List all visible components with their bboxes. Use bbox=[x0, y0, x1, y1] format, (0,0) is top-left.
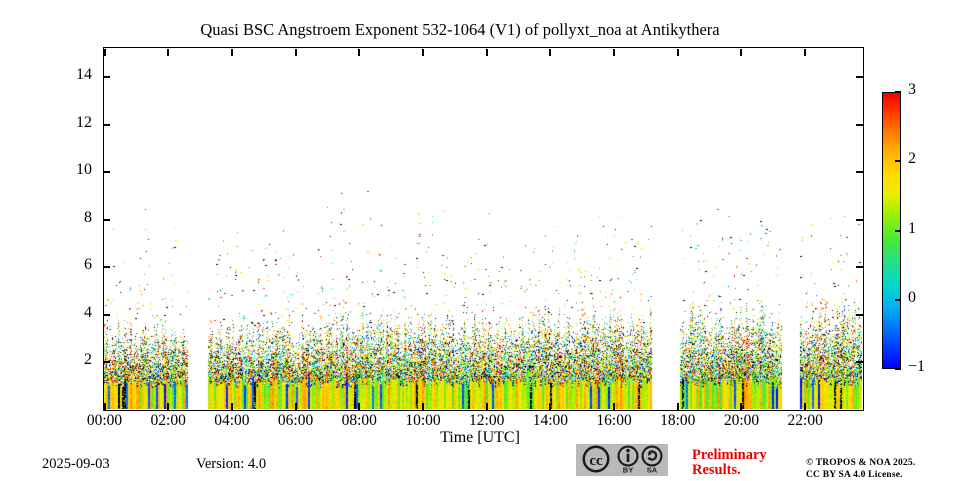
x-tick-label: 10:00 bbox=[405, 412, 440, 430]
x-tick-mark bbox=[613, 403, 615, 410]
colorbar-tick-mark bbox=[895, 368, 901, 370]
colorbar-tick-mark bbox=[895, 91, 901, 93]
x-tick-mark-top bbox=[677, 49, 679, 56]
x-tick-mark bbox=[486, 403, 488, 410]
x-tick-mark-top bbox=[613, 49, 615, 56]
x-tick-label: 16:00 bbox=[596, 412, 631, 430]
x-tick-mark-top bbox=[804, 49, 806, 56]
colorbar-tick-label: −1 bbox=[908, 358, 925, 376]
x-tick-mark bbox=[358, 403, 360, 410]
y-tick-mark bbox=[103, 171, 110, 173]
x-tick-label: 02:00 bbox=[151, 412, 186, 430]
colorbar-tick-label: 0 bbox=[908, 289, 916, 307]
copyright-line-2: CC BY SA 4.0 License. bbox=[806, 470, 915, 481]
y-tick-mark bbox=[103, 361, 110, 363]
x-tick-mark bbox=[740, 403, 742, 410]
y-tick-mark-right bbox=[856, 361, 863, 363]
y-tick-label: 2 bbox=[84, 351, 92, 369]
y-tick-mark bbox=[103, 314, 110, 316]
x-tick-mark bbox=[549, 403, 551, 410]
colorbar-tick-mark bbox=[895, 160, 901, 162]
x-tick-mark bbox=[677, 403, 679, 410]
x-tick-mark bbox=[804, 403, 806, 410]
creative-commons-badge: cc BY SA bbox=[576, 444, 668, 476]
x-tick-mark bbox=[295, 403, 297, 410]
x-tick-label: 00:00 bbox=[87, 412, 122, 430]
y-tick-label: 4 bbox=[84, 304, 92, 322]
y-tick-mark-right bbox=[856, 266, 863, 268]
preliminary-line-1: Preliminary bbox=[692, 448, 802, 463]
y-tick-mark bbox=[103, 124, 110, 126]
x-tick-mark-top bbox=[422, 49, 424, 56]
x-tick-mark bbox=[231, 403, 233, 410]
y-tick-label: 10 bbox=[76, 161, 92, 179]
page-title: Quasi BSC Angstroem Exponent 532-1064 (V… bbox=[0, 20, 920, 40]
x-tick-label: 08:00 bbox=[342, 412, 377, 430]
y-tick-mark-right bbox=[856, 76, 863, 78]
y-tick-mark-right bbox=[856, 219, 863, 221]
copyright-line-1: © TROPOS & NOA 2025. bbox=[806, 458, 915, 470]
x-tick-mark bbox=[104, 403, 106, 410]
preliminary-notice: Preliminary Results. bbox=[692, 448, 802, 478]
x-tick-label: 22:00 bbox=[788, 412, 823, 430]
colorbar-tick-label: 1 bbox=[908, 220, 916, 238]
x-tick-mark-top bbox=[549, 49, 551, 56]
x-tick-mark-top bbox=[104, 49, 106, 56]
svg-text:cc: cc bbox=[589, 453, 603, 469]
version-label: Version: 4.0 bbox=[196, 456, 266, 473]
x-tick-label: 20:00 bbox=[724, 412, 759, 430]
x-tick-label: 18:00 bbox=[660, 412, 695, 430]
x-tick-mark bbox=[167, 403, 169, 410]
colorbar-tick-label: 3 bbox=[908, 81, 916, 99]
x-tick-label: 12:00 bbox=[469, 412, 504, 430]
y-tick-mark bbox=[103, 76, 110, 78]
figure-root: Quasi BSC Angstroem Exponent 532-1064 (V… bbox=[0, 0, 960, 480]
x-tick-mark-top bbox=[167, 49, 169, 56]
x-tick-mark-top bbox=[358, 49, 360, 56]
cc-by-sa-icon: cc BY SA bbox=[576, 444, 668, 476]
cc-sa-label: SA bbox=[647, 466, 658, 475]
x-tick-label: 14:00 bbox=[533, 412, 568, 430]
x-tick-mark-top bbox=[295, 49, 297, 56]
colorbar-tick-label: 2 bbox=[908, 150, 916, 168]
y-tick-mark bbox=[103, 266, 110, 268]
copyright-notice: © TROPOS & NOA 2025. CC BY SA 4.0 Licens… bbox=[806, 458, 915, 481]
colorbar-tick-mark bbox=[895, 299, 901, 301]
x-tick-mark-top bbox=[231, 49, 233, 56]
x-tick-mark-top bbox=[486, 49, 488, 56]
date-stamp: 2025-09-03 bbox=[42, 456, 110, 473]
y-tick-label: 8 bbox=[84, 209, 92, 227]
y-tick-mark bbox=[103, 219, 110, 221]
preliminary-line-2: Results. bbox=[692, 463, 802, 478]
plot-area bbox=[103, 47, 864, 411]
x-tick-label: 04:00 bbox=[214, 412, 249, 430]
y-tick-mark-right bbox=[856, 124, 863, 126]
x-tick-mark bbox=[422, 403, 424, 410]
y-tick-label: 6 bbox=[84, 256, 92, 274]
cc-by-label: BY bbox=[623, 466, 633, 475]
colorbar-tick-mark bbox=[895, 230, 901, 232]
y-tick-mark-right bbox=[856, 171, 863, 173]
x-tick-mark-top bbox=[740, 49, 742, 56]
colorbar: −10123 bbox=[882, 92, 901, 369]
x-tick-label: 06:00 bbox=[278, 412, 313, 430]
x-axis-label: Time [UTC] bbox=[0, 429, 960, 447]
y-tick-label: 14 bbox=[76, 66, 92, 84]
y-tick-mark-right bbox=[856, 314, 863, 316]
heatmap-canvas bbox=[104, 48, 862, 409]
y-tick-label: 12 bbox=[76, 114, 92, 132]
